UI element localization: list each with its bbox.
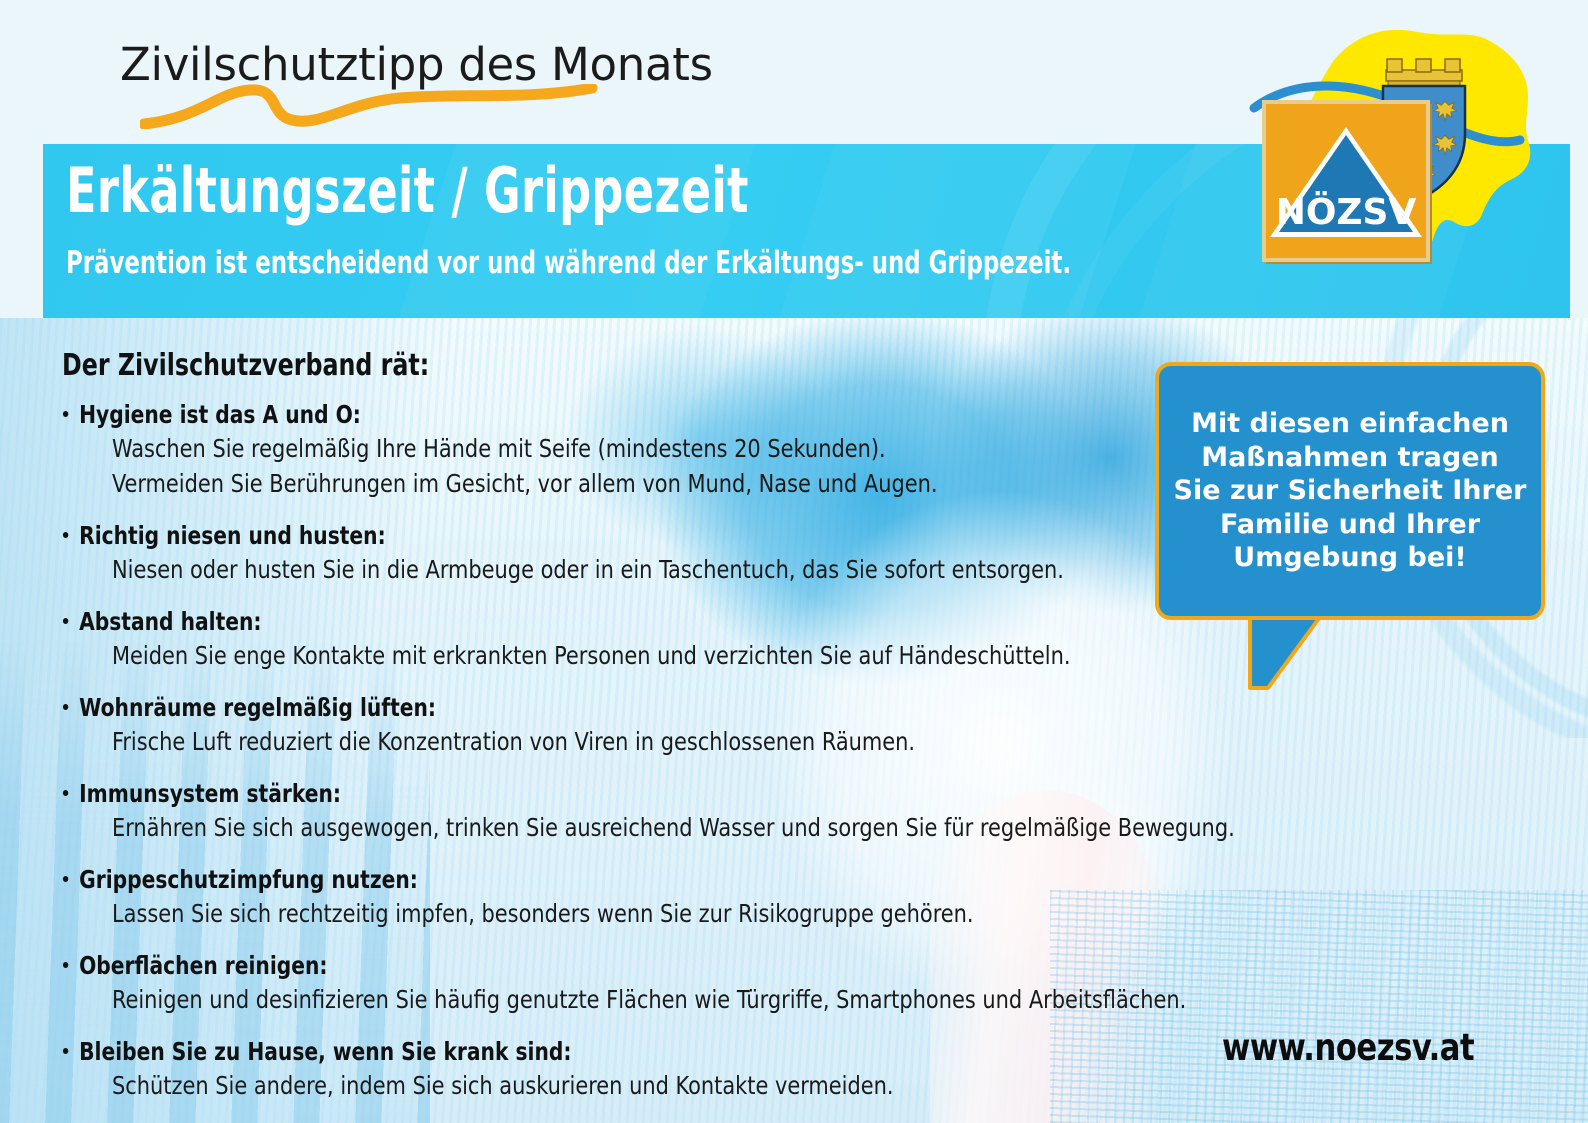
tip-line: Ernähren Sie sich ausgewogen, trinken Si… bbox=[112, 811, 1163, 844]
tip-line: Reinigen und desinfizieren Sie häufig ge… bbox=[112, 983, 1163, 1016]
callout-line: Umgebung bei! bbox=[1174, 541, 1527, 574]
noezsv-logo[interactable]: NÖZSV bbox=[1238, 22, 1538, 292]
headline-subtitle: Prävention ist entscheidend vor und währ… bbox=[66, 245, 1071, 281]
tip-heading-label: Richtig niesen und husten: bbox=[79, 521, 386, 550]
tip-item: Immunsystem stärken:Ernähren Sie sich au… bbox=[62, 779, 1242, 844]
tip-item: Richtig niesen und husten:Niesen oder hu… bbox=[62, 521, 1242, 586]
tip-heading: Oberflächen reinigen: bbox=[62, 951, 1124, 981]
tip-item: Hygiene ist das A und O:Waschen Sie rege… bbox=[62, 400, 1242, 500]
tip-heading-label: Wohnräume regelmäßig lüften: bbox=[79, 693, 436, 722]
tip-heading-label: Immunsystem stärken: bbox=[79, 779, 341, 808]
tip-line: Lassen Sie sich rechtzeitig impfen, beso… bbox=[112, 897, 1163, 930]
kicker-squiggle-icon bbox=[140, 84, 600, 129]
tip-line: Vermeiden Sie Berührungen im Gesicht, vo… bbox=[112, 467, 1163, 500]
tip-item: Wohnräume regelmäßig lüften:Frische Luft… bbox=[62, 693, 1242, 758]
headline-title: Erkältungszeit / Grippezeit bbox=[66, 158, 749, 223]
tip-line: Meiden Sie enge Kontakte mit erkrankten … bbox=[112, 639, 1163, 672]
section-title: Der Zivilschutzverband rät: bbox=[62, 348, 429, 383]
tip-heading: Abstand halten: bbox=[62, 607, 1124, 637]
tip-heading-label: Grippeschutzimpfung nutzen: bbox=[79, 865, 418, 894]
bullet-icon bbox=[63, 618, 68, 624]
tip-heading: Immunsystem stärken: bbox=[62, 779, 1124, 809]
tip-heading-label: Bleiben Sie zu Hause, wenn Sie krank sin… bbox=[79, 1037, 571, 1066]
callout-bubble-text: Mit diesen einfachenMaßnahmen tragenSie … bbox=[1162, 407, 1539, 574]
tip-heading: Grippeschutzimpfung nutzen: bbox=[62, 865, 1124, 895]
callout-line: Familie und Ihrer bbox=[1174, 508, 1527, 541]
tip-item: Grippeschutzimpfung nutzen:Lassen Sie si… bbox=[62, 865, 1242, 930]
callout-line: Sie zur Sicherheit Ihrer bbox=[1174, 474, 1527, 507]
tip-line: Frische Luft reduziert die Konzentration… bbox=[112, 725, 1163, 758]
tip-heading: Richtig niesen und husten: bbox=[62, 521, 1124, 551]
website-url[interactable]: www.noezsv.at bbox=[1222, 1026, 1474, 1069]
tip-heading-label: Abstand halten: bbox=[79, 607, 261, 636]
tip-line: Schützen Sie andere, indem Sie sich ausk… bbox=[112, 1069, 1163, 1102]
bullet-icon bbox=[63, 704, 68, 710]
callout-bubble: Mit diesen einfachenMaßnahmen tragenSie … bbox=[1155, 362, 1545, 620]
tip-heading-label: Oberflächen reinigen: bbox=[79, 951, 327, 980]
poster-root: Zivilschutztipp des Monats Erkältungszei… bbox=[0, 0, 1588, 1123]
tip-item: Bleiben Sie zu Hause, wenn Sie krank sin… bbox=[62, 1037, 1242, 1102]
tip-heading-label: Hygiene ist das A und O: bbox=[79, 400, 361, 429]
tip-line: Niesen oder husten Sie in die Armbeuge o… bbox=[112, 553, 1163, 586]
bullet-icon bbox=[63, 790, 68, 796]
tip-item: Oberflächen reinigen:Reinigen und desinf… bbox=[62, 951, 1242, 1016]
tip-line: Waschen Sie regelmäßig Ihre Hände mit Se… bbox=[112, 432, 1163, 465]
bullet-icon bbox=[63, 962, 68, 968]
callout-line: Mit diesen einfachen bbox=[1174, 407, 1527, 440]
bullet-icon bbox=[63, 876, 68, 882]
bullet-icon bbox=[63, 1048, 68, 1054]
tip-heading: Bleiben Sie zu Hause, wenn Sie krank sin… bbox=[62, 1037, 1124, 1067]
tip-heading: Wohnräume regelmäßig lüften: bbox=[62, 693, 1124, 723]
bullet-icon bbox=[63, 532, 68, 538]
callout-line: Maßnahmen tragen bbox=[1174, 441, 1527, 474]
bullet-icon bbox=[63, 411, 68, 417]
logo-wordmark: NÖZSV bbox=[1276, 191, 1417, 233]
tip-item: Abstand halten:Meiden Sie enge Kontakte … bbox=[62, 607, 1242, 672]
civil-protection-emblem-icon: NÖZSV bbox=[1264, 102, 1432, 264]
tip-heading: Hygiene ist das A und O: bbox=[62, 400, 1124, 430]
tips-list: Hygiene ist das A und O:Waschen Sie rege… bbox=[62, 400, 1242, 1123]
